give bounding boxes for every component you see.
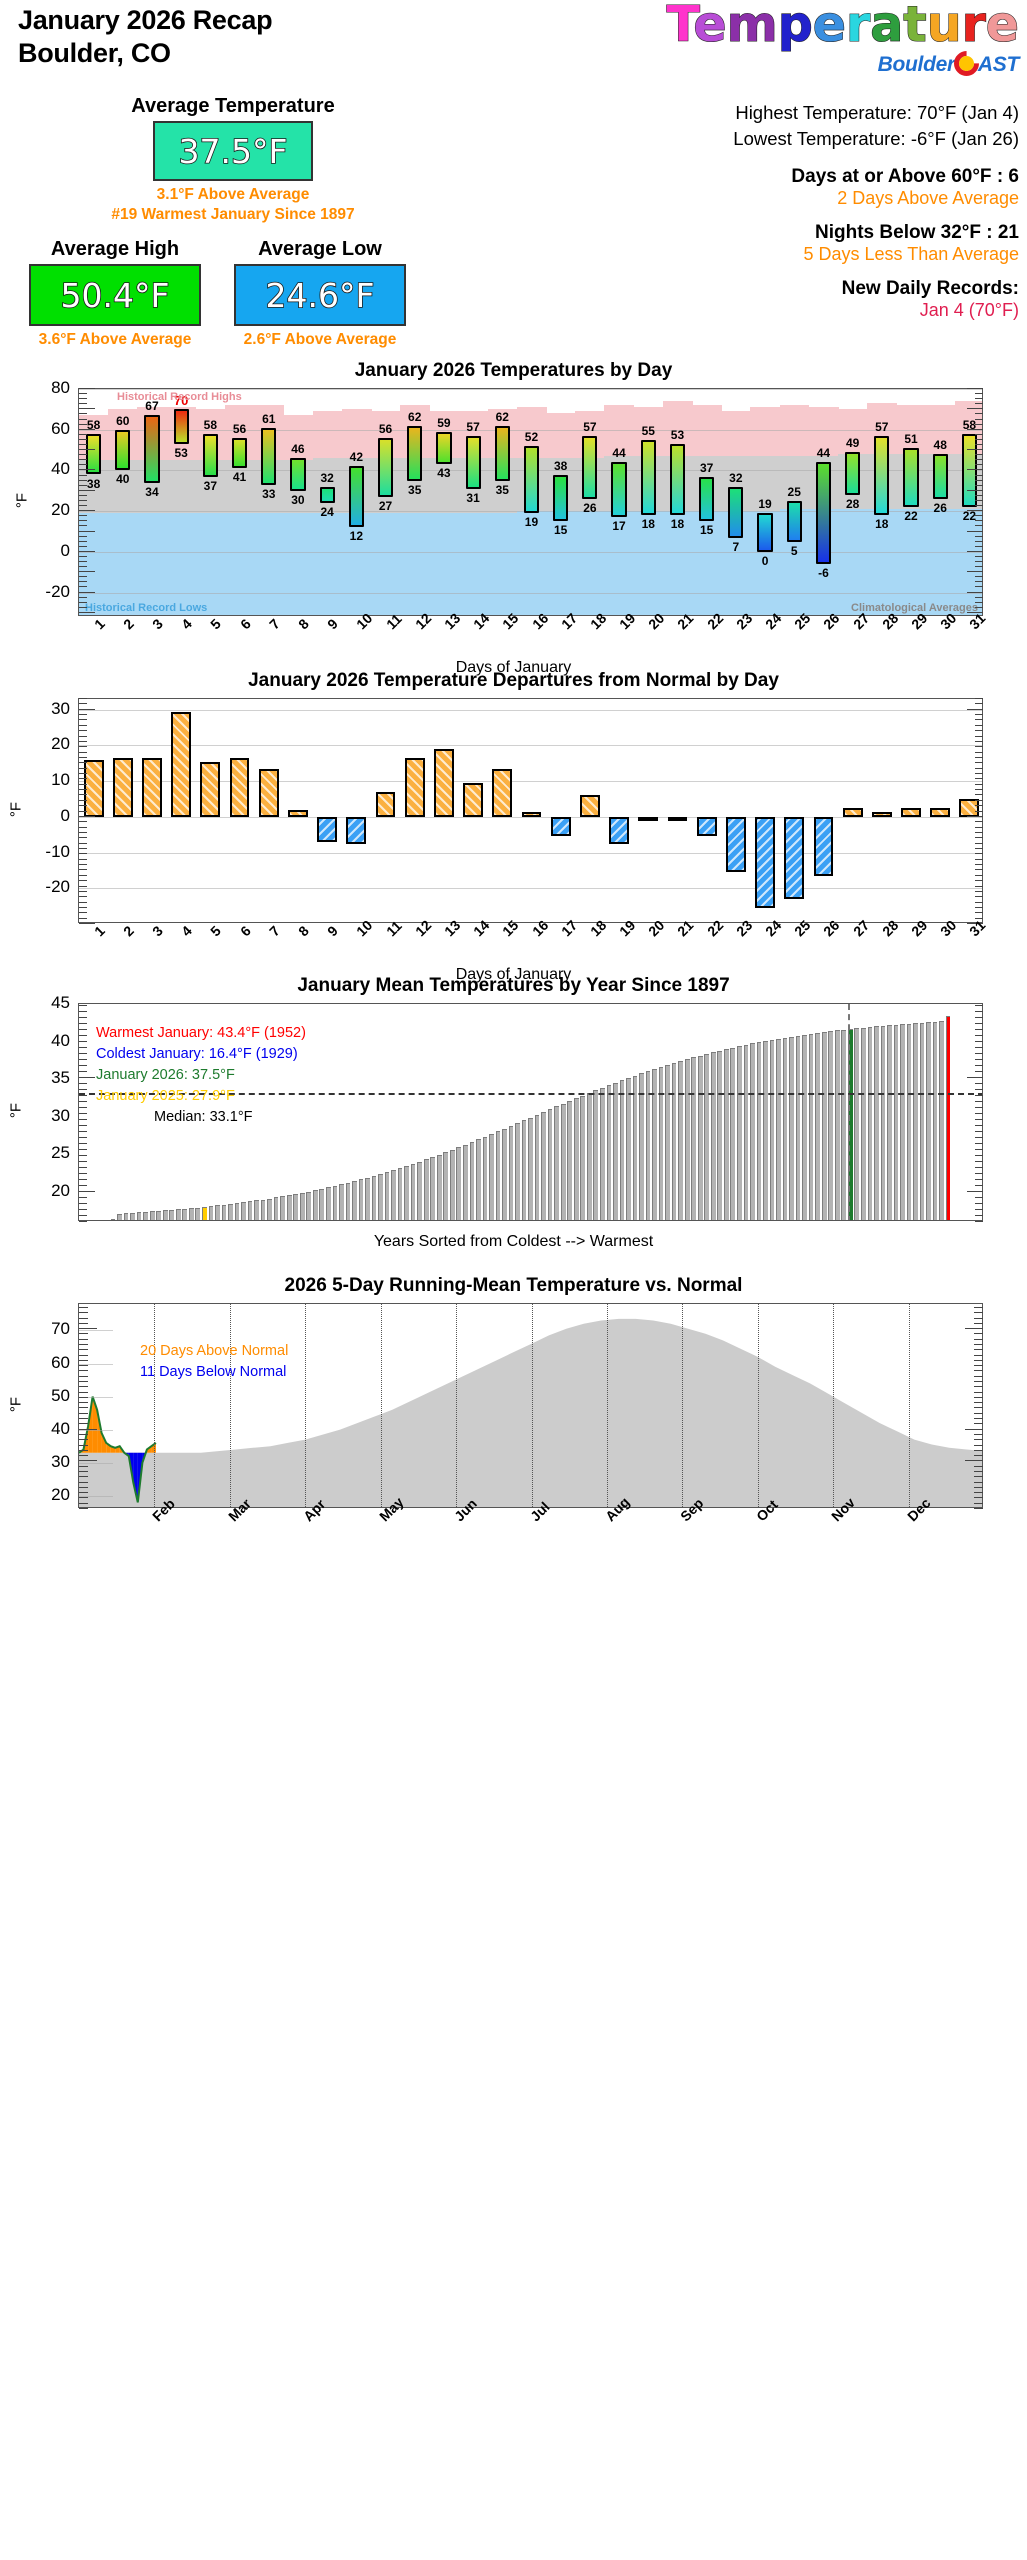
chart1-minor-tick	[79, 505, 87, 506]
chart4-month-gridline	[607, 1304, 608, 1508]
year-bar	[306, 1192, 311, 1221]
chart2-minor-tick	[975, 736, 983, 737]
record-low-band	[108, 513, 138, 616]
chart4-plot	[78, 1303, 983, 1508]
chart4-minor-tick	[79, 1471, 88, 1472]
chart1-minor-tick	[79, 531, 95, 532]
chart2-xtick-2: 2	[120, 922, 137, 939]
chart1-minor-tick	[975, 393, 983, 394]
chart2-minor-tick	[79, 891, 87, 892]
temperature-range-bar	[728, 487, 743, 538]
chart2-ytick-30: 30	[4, 699, 70, 719]
chart1-xtick-6: 6	[237, 615, 254, 632]
chart3-ytick-45: 45	[4, 993, 70, 1013]
departure-bar	[317, 817, 337, 842]
year-bar	[189, 1208, 194, 1221]
brand-right-text: AST	[978, 53, 1019, 76]
year-bar	[809, 1034, 814, 1221]
departure-bar	[463, 783, 483, 817]
year-bar	[156, 1211, 161, 1221]
bar-high-label: 25	[777, 485, 812, 499]
departure-bar	[200, 762, 220, 817]
chart2-minor-tick	[79, 875, 87, 876]
avg-low-value: 24.6°F	[266, 276, 375, 315]
chart1-xtick-1: 1	[91, 615, 108, 632]
chart3-minor-tick	[975, 1119, 983, 1120]
chart4-minor-tick	[974, 1381, 983, 1382]
chart1-minor-tick	[975, 485, 983, 486]
chart1-minor-tick	[79, 388, 95, 389]
year-bar	[907, 1024, 912, 1221]
temperature-range-bar	[670, 444, 685, 515]
chart2-minor-tick	[975, 891, 983, 892]
chart2-minor-tick	[975, 907, 983, 908]
departure-bar	[814, 817, 834, 876]
climo-band-label: Climatological Averages	[851, 602, 978, 614]
year-bar	[443, 1152, 448, 1221]
chart4-plot-area: FebMarAprMayJunJulAugSepOctNovDec2030405…	[0, 1297, 1027, 1562]
chart2-xtick-9: 9	[324, 922, 341, 939]
year-bar	[254, 1200, 259, 1221]
chart2-minor-tick	[79, 736, 87, 737]
record-low-band	[400, 513, 430, 616]
year-bar	[489, 1134, 494, 1221]
chart2-ytick--20: -20	[4, 877, 70, 897]
chart1-minor-tick	[79, 495, 87, 496]
chart4-minor-tick	[974, 1423, 983, 1424]
bar-high-label: 32	[310, 471, 345, 485]
chart1-minor-tick	[975, 480, 983, 481]
chart1-minor-tick	[975, 586, 983, 587]
chart1-ylabel: °F	[14, 471, 31, 531]
chart3-minor-tick	[79, 1053, 87, 1054]
chart3-minor-tick	[975, 1221, 983, 1222]
avg-high-sub: 3.6°F Above Average	[10, 330, 220, 350]
year-bar	[352, 1181, 357, 1221]
nights-below-32: Nights Below 32°F : 21	[733, 222, 1019, 244]
chart1-minor-tick	[79, 581, 87, 582]
chart2-minor-tick	[79, 794, 87, 795]
chart2-minor-tick	[79, 896, 87, 897]
chart4-minor-tick	[974, 1434, 983, 1435]
bar-high-label: 60	[105, 414, 140, 428]
chart1-title: January 2026 Temperatures by Day	[0, 360, 1027, 382]
year-bar	[789, 1037, 794, 1222]
chart4-minor-tick	[974, 1370, 983, 1371]
chart1-minor-tick	[79, 434, 87, 435]
year-bar	[117, 1214, 122, 1221]
chart4-minor-tick	[974, 1418, 983, 1419]
chart2-gridline	[79, 817, 983, 818]
chart4-minor-tick	[974, 1360, 983, 1361]
chart2-minor-tick	[79, 752, 87, 753]
year-bar	[326, 1187, 331, 1221]
temperature-range-bar	[787, 501, 802, 542]
avg-low-value-box: 24.6°F	[234, 264, 406, 326]
chart4-minor-tick	[79, 1423, 88, 1424]
coldest-year-bar	[111, 1219, 116, 1221]
chart1-minor-tick	[967, 531, 983, 532]
year-bar	[378, 1174, 383, 1221]
chart4-minor-tick	[79, 1455, 88, 1456]
avg-high-value: 50.4°F	[61, 276, 170, 315]
chart4-minor-tick	[965, 1328, 983, 1329]
chart1-minor-tick	[975, 444, 983, 445]
temperature-range-bar	[436, 432, 451, 465]
chart2-minor-tick	[975, 821, 983, 822]
chart2-minor-tick	[975, 752, 983, 753]
chart1-gridline	[79, 593, 983, 594]
chart2-minor-tick	[79, 725, 87, 726]
year-bar	[261, 1200, 266, 1221]
chart3-minor-tick	[79, 1125, 87, 1126]
year-bar	[222, 1205, 227, 1221]
chart2-minor-tick	[79, 757, 87, 758]
chart4-minor-tick	[79, 1460, 97, 1461]
chart4-minor-tick	[79, 1503, 88, 1504]
departure-bar	[784, 817, 804, 899]
chart3-minor-tick	[79, 1011, 87, 1012]
chart1-minor-tick	[967, 388, 983, 389]
chart4-minor-tick	[79, 1355, 88, 1356]
bar-low-label: 7	[718, 540, 753, 554]
chart1-minor-tick	[79, 393, 87, 394]
year-bar	[868, 1027, 873, 1221]
chart1-plot-area: 5838604067347053583756416133463032244212…	[0, 382, 1027, 667]
chart3-minor-tick	[79, 1059, 87, 1060]
year-bar	[365, 1178, 370, 1221]
departure-bar	[522, 812, 542, 817]
year-bar	[241, 1202, 246, 1221]
year-bar	[541, 1112, 546, 1221]
chart1-minor-tick	[975, 419, 983, 420]
chart1-minor-tick	[79, 510, 95, 511]
chart2-minor-tick	[975, 805, 983, 806]
chart3-minor-tick	[79, 1179, 87, 1180]
avg-low-sub: 2.6°F Above Average	[215, 330, 425, 350]
temperature-range-bar	[903, 448, 918, 507]
year-bar	[711, 1052, 716, 1221]
title-line-1: January 2026 Recap	[18, 4, 272, 37]
year-bar	[580, 1096, 585, 1221]
temperature-range-bar	[757, 513, 772, 552]
year-bar	[600, 1088, 605, 1221]
bar-high-label: 57	[572, 420, 607, 434]
chart3-annotation-4: Median: 33.1°F	[154, 1109, 253, 1125]
chart2-minor-tick	[79, 837, 87, 838]
bar-low-label: 35	[485, 483, 520, 497]
temperature-range-bar	[845, 452, 860, 495]
chart3-minor-tick	[79, 1089, 87, 1090]
chart1-xtick-9: 9	[324, 615, 341, 632]
chart4-minor-tick	[974, 1333, 983, 1334]
chart2-minor-tick	[79, 848, 87, 849]
bar-low-label: 5	[777, 544, 812, 558]
chart2-minor-tick	[79, 762, 87, 763]
departure-bar	[668, 817, 688, 821]
chart1-minor-tick	[79, 490, 95, 491]
chart3-minor-tick	[975, 1017, 983, 1018]
chart3-minor-tick	[79, 1101, 87, 1102]
year-bar	[672, 1063, 677, 1221]
year-bar	[554, 1106, 559, 1221]
colorado-c-icon	[954, 51, 979, 76]
chart4-gridline	[79, 1330, 113, 1331]
wordmark-letter: a	[870, 0, 903, 53]
chart4-title: 2026 5-Day Running-Mean Temperature vs. …	[0, 1275, 1027, 1297]
year-bar	[881, 1026, 886, 1221]
year-bar	[372, 1176, 377, 1221]
chart1-minor-tick	[975, 398, 983, 399]
bar-low-label: 34	[134, 485, 169, 499]
chart4-minor-tick	[79, 1376, 88, 1377]
chart4-minor-tick	[974, 1466, 983, 1467]
chart4-minor-tick	[974, 1497, 983, 1498]
chart2-minor-tick	[975, 778, 983, 779]
chart4-note-1: 11 Days Below Normal	[140, 1364, 286, 1380]
year-bar	[874, 1026, 879, 1221]
departure-bar	[872, 812, 892, 817]
year-bar	[639, 1073, 644, 1221]
chart3-title: January Mean Temperatures by Year Since …	[0, 975, 1027, 997]
chart1-minor-tick	[79, 586, 87, 587]
bar-high-label: 48	[923, 438, 958, 452]
chart3-minor-tick	[975, 1101, 983, 1102]
bar-high-label: 19	[747, 497, 782, 511]
chart1-minor-tick	[79, 541, 87, 542]
wordmark-letter: r	[962, 0, 986, 53]
chart1-minor-tick	[79, 469, 95, 470]
chart3-minor-tick	[975, 1167, 983, 1168]
record-low-band	[79, 513, 109, 616]
chart3-minor-tick	[79, 1065, 87, 1066]
chart3-minor-tick	[975, 1197, 983, 1198]
year-bar	[293, 1194, 298, 1221]
temperature-range-bar	[261, 428, 276, 485]
chart2-minor-tick	[79, 719, 87, 720]
year-bar	[430, 1157, 435, 1221]
year-bar	[476, 1139, 481, 1221]
chart2-xtick-7: 7	[266, 922, 283, 939]
chart3-minor-tick	[975, 1131, 983, 1132]
year-bar	[319, 1189, 324, 1221]
year-bar	[607, 1085, 612, 1221]
chart1-minor-tick	[967, 449, 983, 450]
chart1-minor-tick	[79, 592, 95, 593]
chart4-ytick-60: 60	[4, 1353, 70, 1373]
chart3-minor-tick	[79, 1029, 87, 1030]
chart3-minor-tick	[79, 1041, 87, 1042]
chart-mean-by-year: January Mean Temperatures by Year Since …	[0, 975, 1027, 1275]
wordmark-letter: t	[903, 0, 926, 53]
year-bar	[574, 1098, 579, 1221]
chart4-minor-tick	[79, 1344, 88, 1345]
chart2-ylabel: °F	[8, 779, 25, 839]
chart2-minor-tick	[79, 714, 87, 715]
chart4-minor-tick	[974, 1492, 983, 1493]
chart4-minor-tick	[79, 1360, 88, 1361]
chart1-minor-tick	[79, 546, 87, 547]
chart1-minor-tick	[975, 505, 983, 506]
record-low-band	[429, 513, 459, 616]
chart1-minor-tick	[975, 566, 983, 567]
year-bar	[757, 1042, 762, 1221]
chart1-minor-tick	[79, 403, 87, 404]
chart1-minor-tick	[967, 510, 983, 511]
chart2-minor-tick	[975, 827, 983, 828]
chart4-minor-tick	[79, 1397, 88, 1398]
bar-low-label: 12	[339, 529, 374, 543]
chart1-gridline	[79, 389, 983, 390]
chart1-xtick-8: 8	[295, 615, 312, 632]
chart4-minor-tick	[974, 1339, 983, 1340]
year-bar	[626, 1078, 631, 1221]
chart1-minor-tick	[79, 602, 87, 603]
chart4-minor-tick	[79, 1476, 88, 1477]
year-bar	[698, 1056, 703, 1221]
bar-high-label: 62	[485, 410, 520, 424]
chart1-minor-tick	[79, 429, 95, 430]
chart1-minor-tick	[975, 546, 983, 547]
avg-high-block: Average High 50.4°F 3.6°F Above Average	[10, 238, 220, 350]
departure-bar	[113, 758, 133, 817]
chart3-minor-tick	[79, 1143, 87, 1144]
chart4-minor-tick	[965, 1429, 983, 1430]
temperature-range-bar	[86, 434, 101, 475]
year-bar	[613, 1083, 618, 1221]
bar-high-label: 38	[543, 459, 578, 473]
chart1-minor-tick	[975, 495, 983, 496]
chart3-minor-tick	[975, 1029, 983, 1030]
year-bar	[528, 1118, 533, 1222]
year-bar	[665, 1065, 670, 1221]
departure-bar	[259, 769, 279, 817]
chart3-minor-tick	[79, 1209, 87, 1210]
year-bar	[359, 1179, 364, 1221]
chart2-minor-tick	[975, 698, 983, 699]
chart1-minor-tick	[967, 592, 983, 593]
chart2-minor-tick	[975, 794, 983, 795]
chart2-xtick-1: 1	[91, 922, 108, 939]
temperature-range-bar	[115, 430, 130, 471]
departure-bar	[405, 758, 425, 817]
chart1-minor-tick	[79, 515, 87, 516]
chart4-minor-tick	[974, 1487, 983, 1488]
year-bar	[522, 1120, 527, 1221]
chart1-minor-tick	[975, 536, 983, 537]
chart4-minor-tick	[974, 1471, 983, 1472]
chart3-minor-tick	[79, 1155, 87, 1156]
chart4-month-gridline	[305, 1304, 306, 1508]
chart4-minor-tick	[974, 1476, 983, 1477]
temperature-range-bar	[495, 426, 510, 481]
temperature-range-bar	[611, 462, 626, 517]
chart2-minor-tick	[975, 869, 983, 870]
chart4-minor-tick	[79, 1386, 88, 1387]
temperature-range-bar	[524, 446, 539, 513]
chart1-minor-tick	[79, 424, 87, 425]
year-bar	[828, 1031, 833, 1221]
chart4-minor-tick	[974, 1402, 983, 1403]
avg-temp-block: Average Temperature 37.5°F 3.1°F Above A…	[88, 95, 378, 225]
year-bar	[280, 1196, 285, 1221]
chart2-minor-tick	[975, 886, 983, 887]
chart3-minor-tick	[79, 1119, 87, 1120]
chart3-minor-tick	[79, 1137, 87, 1138]
year-bar	[744, 1045, 749, 1221]
page-header: January 2026 Recap Boulder, CO Temperatu…	[0, 0, 1027, 90]
chart2-minor-tick	[975, 725, 983, 726]
chart1-minor-tick	[79, 475, 87, 476]
chart1-minor-tick	[79, 571, 95, 572]
title-line-2: Boulder, CO	[18, 37, 272, 70]
chart4-minor-tick	[974, 1413, 983, 1414]
year-bar	[456, 1147, 461, 1221]
chart3-minor-tick	[79, 1005, 87, 1006]
avg-temp-sub-2: #19 Warmest January Since 1897	[88, 205, 378, 225]
chart4-month-gridline	[230, 1304, 231, 1508]
year-bar	[887, 1025, 892, 1221]
chart4-minor-tick	[79, 1439, 88, 1440]
chart3-plot-area: Warmest January: 43.4°F (1952)Coldest Ja…	[0, 997, 1027, 1272]
year-bar	[267, 1199, 272, 1221]
chart2-minor-tick	[79, 698, 87, 699]
chart3-minor-tick	[975, 1041, 983, 1042]
chart1-minor-tick	[79, 612, 95, 613]
bar-low-label: 53	[164, 446, 199, 460]
chart3-minor-tick	[975, 1149, 983, 1150]
bar-low-label: 43	[426, 466, 461, 480]
chart2-minor-tick	[975, 843, 983, 844]
year-bar	[548, 1109, 553, 1221]
chart3-minor-tick	[975, 1089, 983, 1090]
chart2-xtick-3: 3	[149, 922, 166, 939]
bar-high-label: 61	[251, 412, 286, 426]
chart4-minor-tick	[974, 1355, 983, 1356]
chart3-minor-tick	[79, 1197, 87, 1198]
chart4-month-gridline	[532, 1304, 533, 1508]
year-bar	[854, 1028, 859, 1221]
record-low-band	[254, 513, 284, 616]
chart3-minor-tick	[79, 1185, 87, 1186]
departure-bar	[697, 817, 717, 837]
year-bar	[228, 1204, 233, 1221]
chart1-minor-tick	[975, 581, 983, 582]
chart4-minor-tick	[79, 1333, 88, 1334]
chart4-minor-tick	[974, 1407, 983, 1408]
year-bar	[417, 1162, 422, 1221]
year-bar	[209, 1206, 214, 1221]
chart4-minor-tick	[79, 1328, 97, 1329]
chart3-minor-tick	[975, 1161, 983, 1162]
chart3-minor-tick	[975, 1083, 983, 1084]
wordmark-letter: T	[666, 0, 693, 53]
departure-bar	[726, 817, 746, 872]
temperature-range-bar	[203, 434, 218, 477]
chart1-minor-tick	[975, 434, 983, 435]
year-bar	[841, 1030, 846, 1221]
highest-temperature: Highest Temperature: 70°F (Jan 4)	[733, 100, 1019, 126]
chart3-minor-tick	[79, 1083, 87, 1084]
year-bar	[450, 1150, 455, 1221]
chart4-minor-tick	[79, 1318, 88, 1319]
chart2-minor-tick	[79, 741, 87, 742]
chart4-minor-tick	[974, 1307, 983, 1308]
chart1-minor-tick	[975, 459, 983, 460]
chart-daily-temperatures: January 2026 Temperatures by Day 5838604…	[0, 360, 1027, 670]
year-bar	[796, 1036, 801, 1222]
temperature-range-bar	[290, 458, 305, 491]
